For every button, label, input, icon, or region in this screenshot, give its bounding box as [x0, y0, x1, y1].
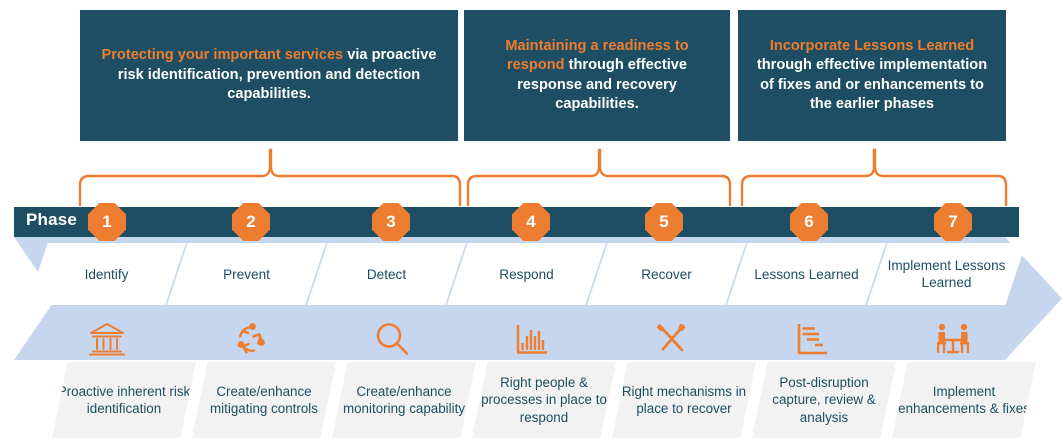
phase-bar-label: Phase — [26, 210, 77, 230]
bracket-phases-1-3 — [78, 148, 462, 206]
phase-description-card-7[interactable]: Implement enhancements & fixes — [892, 362, 1036, 438]
phase-name-2: Prevent — [217, 266, 276, 283]
phase-name-6: Lessons Learned — [748, 266, 864, 283]
phase-name-card-6[interactable]: Lessons Learned — [727, 243, 886, 305]
phase-icon-cell-3 — [347, 313, 437, 365]
phase-icon-cell-5 — [627, 313, 717, 365]
phase-description-card-3[interactable]: Create/enhance monitoring capability — [332, 362, 476, 438]
cycle-arrows-icon — [230, 319, 270, 359]
callout-box-1: Protecting your important services via p… — [80, 10, 458, 141]
phase-name-card-2[interactable]: Prevent — [167, 243, 326, 305]
phase-description-2: Create/enhance mitigating controls — [192, 383, 336, 418]
tools-wrench-screwdriver-icon — [652, 319, 692, 359]
phase-name-card-3[interactable]: Detect — [307, 243, 466, 305]
phase-description-card-4[interactable]: Right people & processes in place to res… — [472, 362, 616, 438]
phase-name-3: Detect — [361, 266, 412, 283]
phase-description-card-2[interactable]: Create/enhance mitigating controls — [192, 362, 336, 438]
callout-3-lead: Incorporate Lessons Learned — [770, 38, 974, 54]
phase-number-6[interactable]: 6 — [790, 203, 828, 241]
phase-description-card-5[interactable]: Right mechanisms in place to recover — [612, 362, 756, 438]
phase-name-7: Implement Lessons Learned — [867, 257, 1026, 291]
phase-name-card-1[interactable]: Identify — [27, 243, 186, 305]
phase-description-1: Proactive inherent risk identification — [52, 383, 196, 418]
descending-chart-icon — [793, 319, 833, 359]
phase-icon-cell-7 — [908, 313, 998, 365]
phase-description-7: Implement enhancements & fixes — [892, 383, 1036, 418]
callout-box-3: Incorporate Lessons Learned through effe… — [738, 10, 1006, 141]
phase-number-5[interactable]: 5 — [645, 203, 683, 241]
phase-name-card-5[interactable]: Recover — [587, 243, 746, 305]
phase-name-1: Identify — [79, 266, 135, 283]
phase-description-3: Create/enhance monitoring capability — [332, 383, 476, 418]
phase-icon-cell-2 — [205, 313, 295, 365]
bank-building-icon — [87, 319, 127, 359]
phase-name-card-7[interactable]: Implement Lessons Learned — [867, 243, 1026, 305]
callout-1-lead: Protecting your important services — [102, 47, 344, 63]
phase-number-3[interactable]: 3 — [372, 203, 410, 241]
phase-name-card-4[interactable]: Respond — [447, 243, 606, 305]
meeting-people-icon — [931, 319, 975, 359]
phase-name-5: Recover — [635, 266, 698, 283]
phase-icon-cell-4 — [487, 313, 577, 365]
bracket-phases-4-5 — [466, 148, 732, 206]
phase-description-card-1[interactable]: Proactive inherent risk identification — [52, 362, 196, 438]
bar-chart-icon — [512, 319, 552, 359]
callout-box-2: Maintaining a readiness to respond throu… — [464, 10, 730, 141]
phase-description-6: Post-disruption capture, review & analys… — [752, 374, 896, 427]
magnifying-glass-icon — [372, 319, 412, 359]
phase-description-4: Right people & processes in place to res… — [472, 374, 616, 427]
phase-description-5: Right mechanisms in place to recover — [612, 383, 756, 418]
phase-icon-cell-1 — [62, 313, 152, 365]
phase-number-7[interactable]: 7 — [934, 203, 972, 241]
phase-icon-cell-6 — [768, 313, 858, 365]
phase-number-4[interactable]: 4 — [512, 203, 550, 241]
incident-lifecycle-diagram: Protecting your important services via p… — [0, 0, 1062, 447]
bracket-phases-6-7 — [740, 148, 1008, 206]
phase-description-card-6[interactable]: Post-disruption capture, review & analys… — [752, 362, 896, 438]
callout-3-rest: through effective implementation of fixe… — [757, 57, 987, 112]
phase-name-4: Respond — [493, 266, 559, 283]
